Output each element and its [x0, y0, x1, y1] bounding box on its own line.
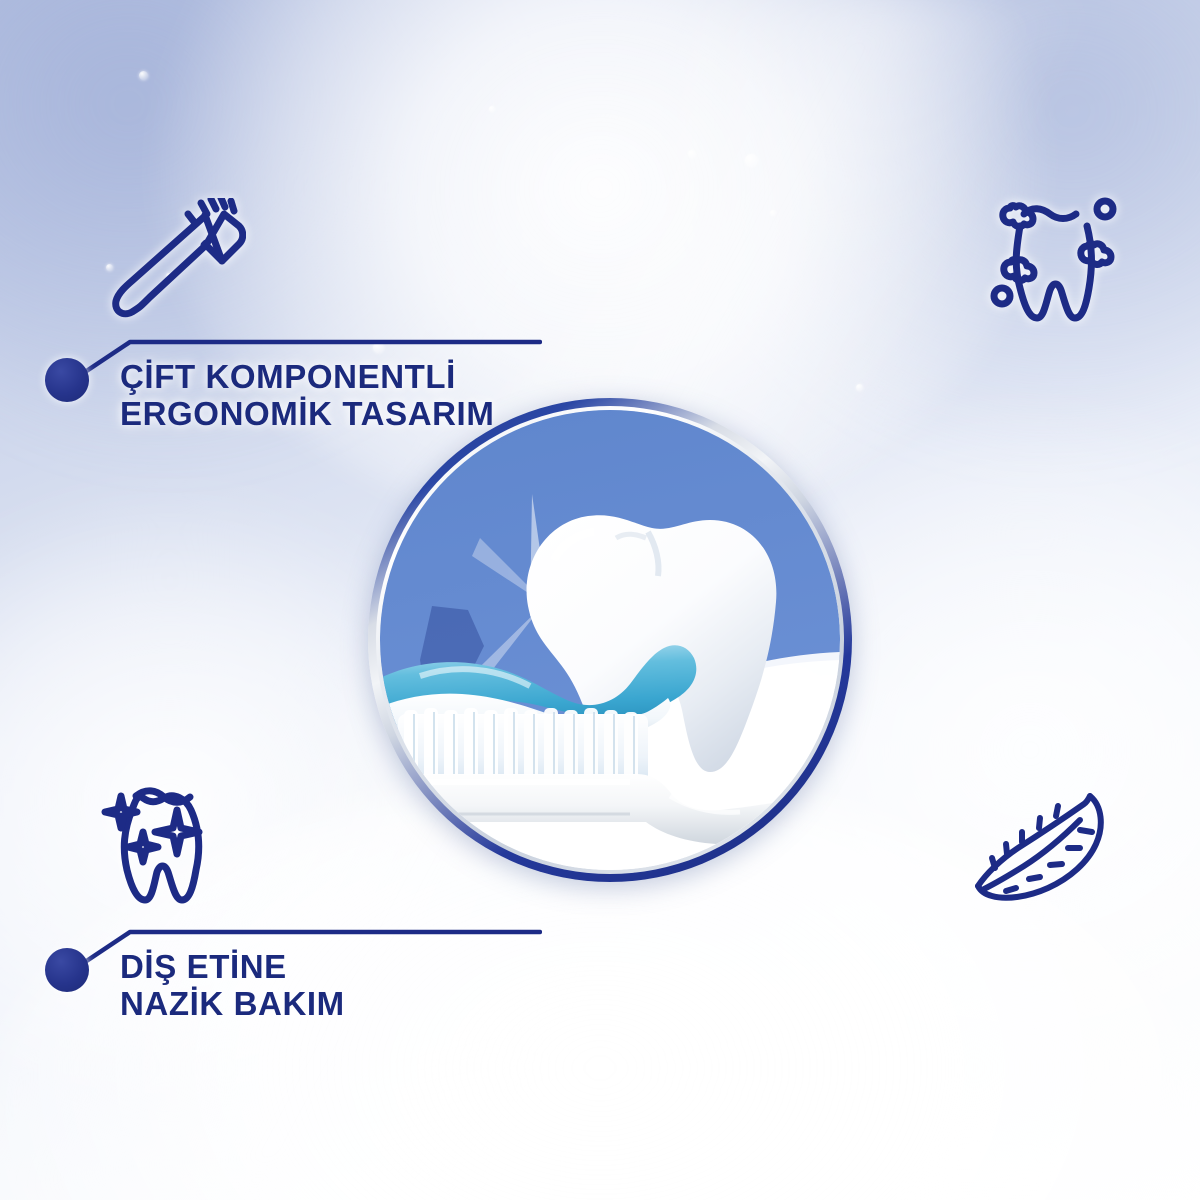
- bubble-particle: [745, 154, 758, 167]
- bubble-particle: [856, 384, 863, 391]
- toothbrush-icon: [106, 198, 246, 328]
- bubble-particle: [688, 150, 696, 158]
- sparkle-tooth-icon: [96, 776, 226, 906]
- promo-banner: ÇİFT KOMPONENTLİ ERGONOMİK TASARIM: [0, 0, 1200, 1200]
- feature-label-line1: ÇİFT KOMPONENTLİ: [120, 358, 456, 395]
- feature-label-bottom-left: DİŞ ETİNE NAZİK BAKIM: [120, 948, 345, 1022]
- feature-label-line2: NAZİK BAKIM: [120, 985, 345, 1022]
- feature-label-line1: DİŞ ETİNE: [120, 948, 287, 985]
- bubble-particle: [139, 71, 148, 80]
- product-hero-circle: [368, 398, 852, 882]
- bubble-particle: [770, 210, 776, 216]
- product-circle-scene: [380, 410, 840, 870]
- bubble-particle: [489, 106, 495, 112]
- tooth-bubbles-icon: [980, 190, 1120, 330]
- connector-dot-bottom-left: [45, 948, 89, 992]
- feather-icon: [962, 782, 1122, 912]
- connector-dot-top-left: [45, 358, 89, 402]
